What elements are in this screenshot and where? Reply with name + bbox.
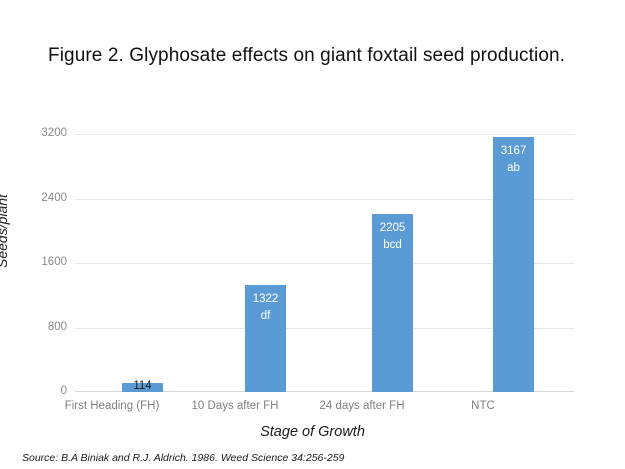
x-tick-label-ntc: NTC — [428, 400, 538, 412]
bar-letters-ntc: ab — [493, 160, 534, 177]
bar-first-heading[interactable]: 114 — [122, 383, 163, 392]
y-tick-label-1600: 1600 — [0, 256, 67, 268]
bar-value-10-days-after-fh: 1322 — [253, 293, 279, 305]
bar-value-24-days-after-fh: 2205 — [380, 222, 406, 234]
y-tick-label-3200: 3200 — [0, 127, 67, 139]
y-tick-label-0: 0 — [0, 385, 67, 397]
bar-letters-10-days-after-fh: df — [245, 308, 286, 325]
x-axis-title: Stage of Growth — [0, 424, 625, 440]
bar-label-first-heading: 114 — [122, 380, 163, 392]
bar-10-days-after-fh[interactable]: 1322 df — [245, 285, 286, 392]
y-tick-label-2400: 2400 — [0, 192, 67, 204]
bar-value-ntc: 3167 — [501, 145, 527, 157]
figure-title: Figure 2. Glyphosate effects on giant fo… — [48, 42, 568, 69]
gridline-3200 — [75, 134, 574, 135]
x-tick-label-10-days-after-fh: 10 Days after FH — [180, 400, 290, 412]
y-tick-label-800: 800 — [0, 321, 67, 333]
bar-ntc[interactable]: 3167 ab — [493, 137, 534, 392]
bar-letters-24-days-after-fh: bcd — [372, 237, 413, 254]
bar-chart: Seeds/plant 3200 2400 1600 800 0 114 132… — [0, 118, 625, 438]
plot-area: 114 1322 df 2205 bcd 3167 ab — [75, 134, 574, 392]
x-tick-label-24-days-after-fh: 24 days after FH — [307, 400, 417, 412]
bar-label-ntc: 3167 ab — [493, 143, 534, 177]
bar-label-10-days-after-fh: 1322 df — [245, 291, 286, 325]
bar-label-24-days-after-fh: 2205 bcd — [372, 220, 413, 254]
x-tick-label-first-heading: First Heading (FH) — [57, 400, 167, 412]
source-note: Source: B.A Biniak and R.J. Aldrich. 198… — [22, 452, 344, 464]
bar-value-first-heading: 114 — [133, 380, 151, 392]
bar-24-days-after-fh[interactable]: 2205 bcd — [372, 214, 413, 392]
